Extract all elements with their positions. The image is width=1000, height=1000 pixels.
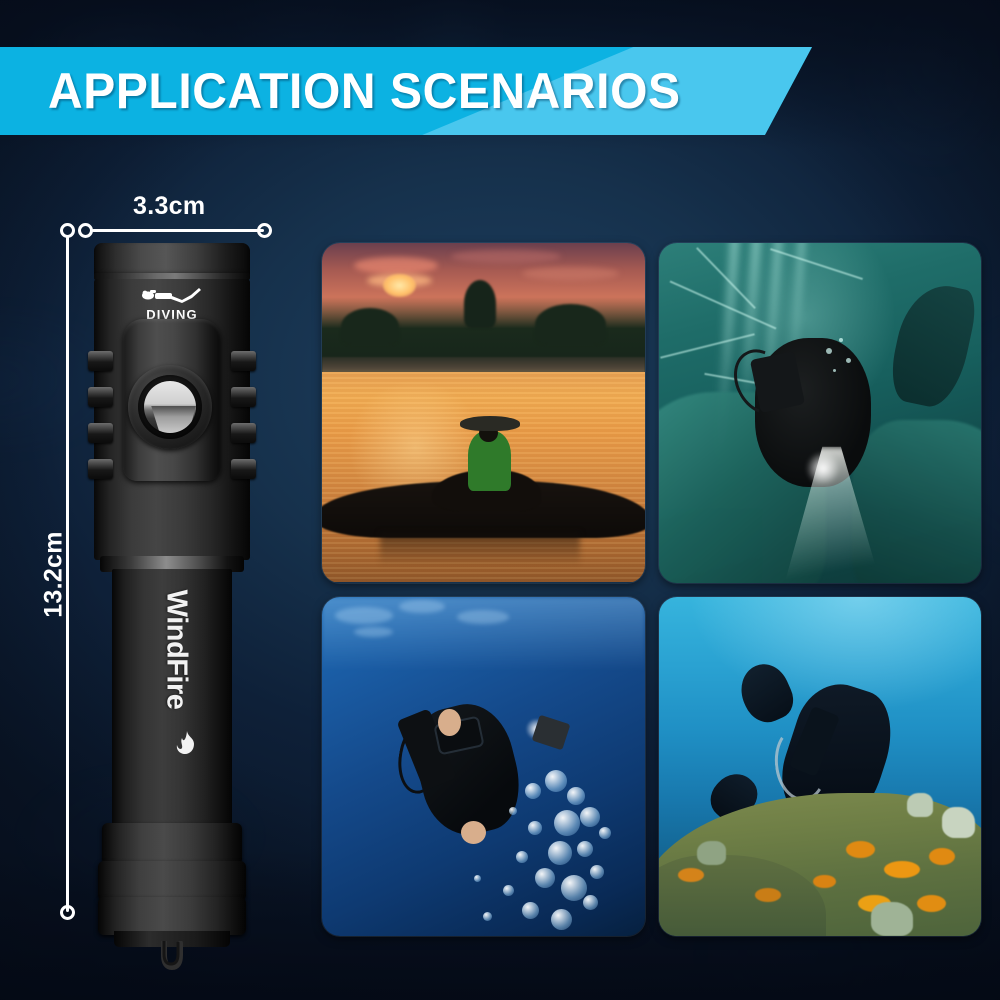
flashlight-bezel xyxy=(94,243,250,277)
banner-title: APPLICATION SCENARIOS xyxy=(48,47,681,135)
cooling-fin xyxy=(231,423,256,443)
flame-icon xyxy=(171,729,201,764)
dimension-width-line xyxy=(92,229,264,232)
photo-open-water-diving[interactable] xyxy=(322,597,645,937)
rotary-switch-knob[interactable] xyxy=(144,381,196,433)
dimension-height-line xyxy=(66,236,69,912)
cooling-fin xyxy=(88,423,113,443)
dimension-height-label: 13.2cm xyxy=(40,515,69,635)
cooling-fin xyxy=(88,351,113,371)
scuba-diver-icon xyxy=(141,287,203,307)
cooling-fin xyxy=(231,387,256,407)
product-flashlight: DIVING WindFire xyxy=(86,243,258,933)
scene-open-water-diving xyxy=(322,597,645,937)
scene-fishing xyxy=(322,243,645,583)
header-banner: APPLICATION SCENARIOS xyxy=(0,47,812,135)
product-marketing-image: APPLICATION SCENARIOS 3.3cm 13.2cm xyxy=(0,0,1000,1000)
dimension-width-label: 3.3cm xyxy=(133,192,205,221)
cooling-fin xyxy=(88,387,113,407)
photo-reef-diving[interactable] xyxy=(659,597,982,937)
brand-logo-text: WindFire xyxy=(160,580,193,720)
diving-logo: DIVING xyxy=(113,287,231,321)
tail-ring xyxy=(102,823,242,865)
photo-cave-diving[interactable] xyxy=(659,243,982,583)
cooling-fin xyxy=(231,351,256,371)
dimension-endpoint-top xyxy=(60,223,75,238)
tail-ring xyxy=(98,897,246,935)
dimension-endpoint-bottom xyxy=(60,905,75,920)
cooling-fin xyxy=(88,459,113,479)
tail-ring xyxy=(98,861,246,901)
photo-sunset-fishing[interactable] xyxy=(322,243,645,583)
scene-cave-diving xyxy=(659,243,982,583)
dimension-endpoint-right xyxy=(257,223,272,238)
scene-reef-diving xyxy=(659,597,982,937)
dimension-endpoint-left xyxy=(78,223,93,238)
cooling-fin xyxy=(231,459,256,479)
lanyard-loop-icon xyxy=(150,941,194,985)
fisherman-silhouette xyxy=(464,409,516,490)
scenario-photo-grid xyxy=(322,243,981,936)
